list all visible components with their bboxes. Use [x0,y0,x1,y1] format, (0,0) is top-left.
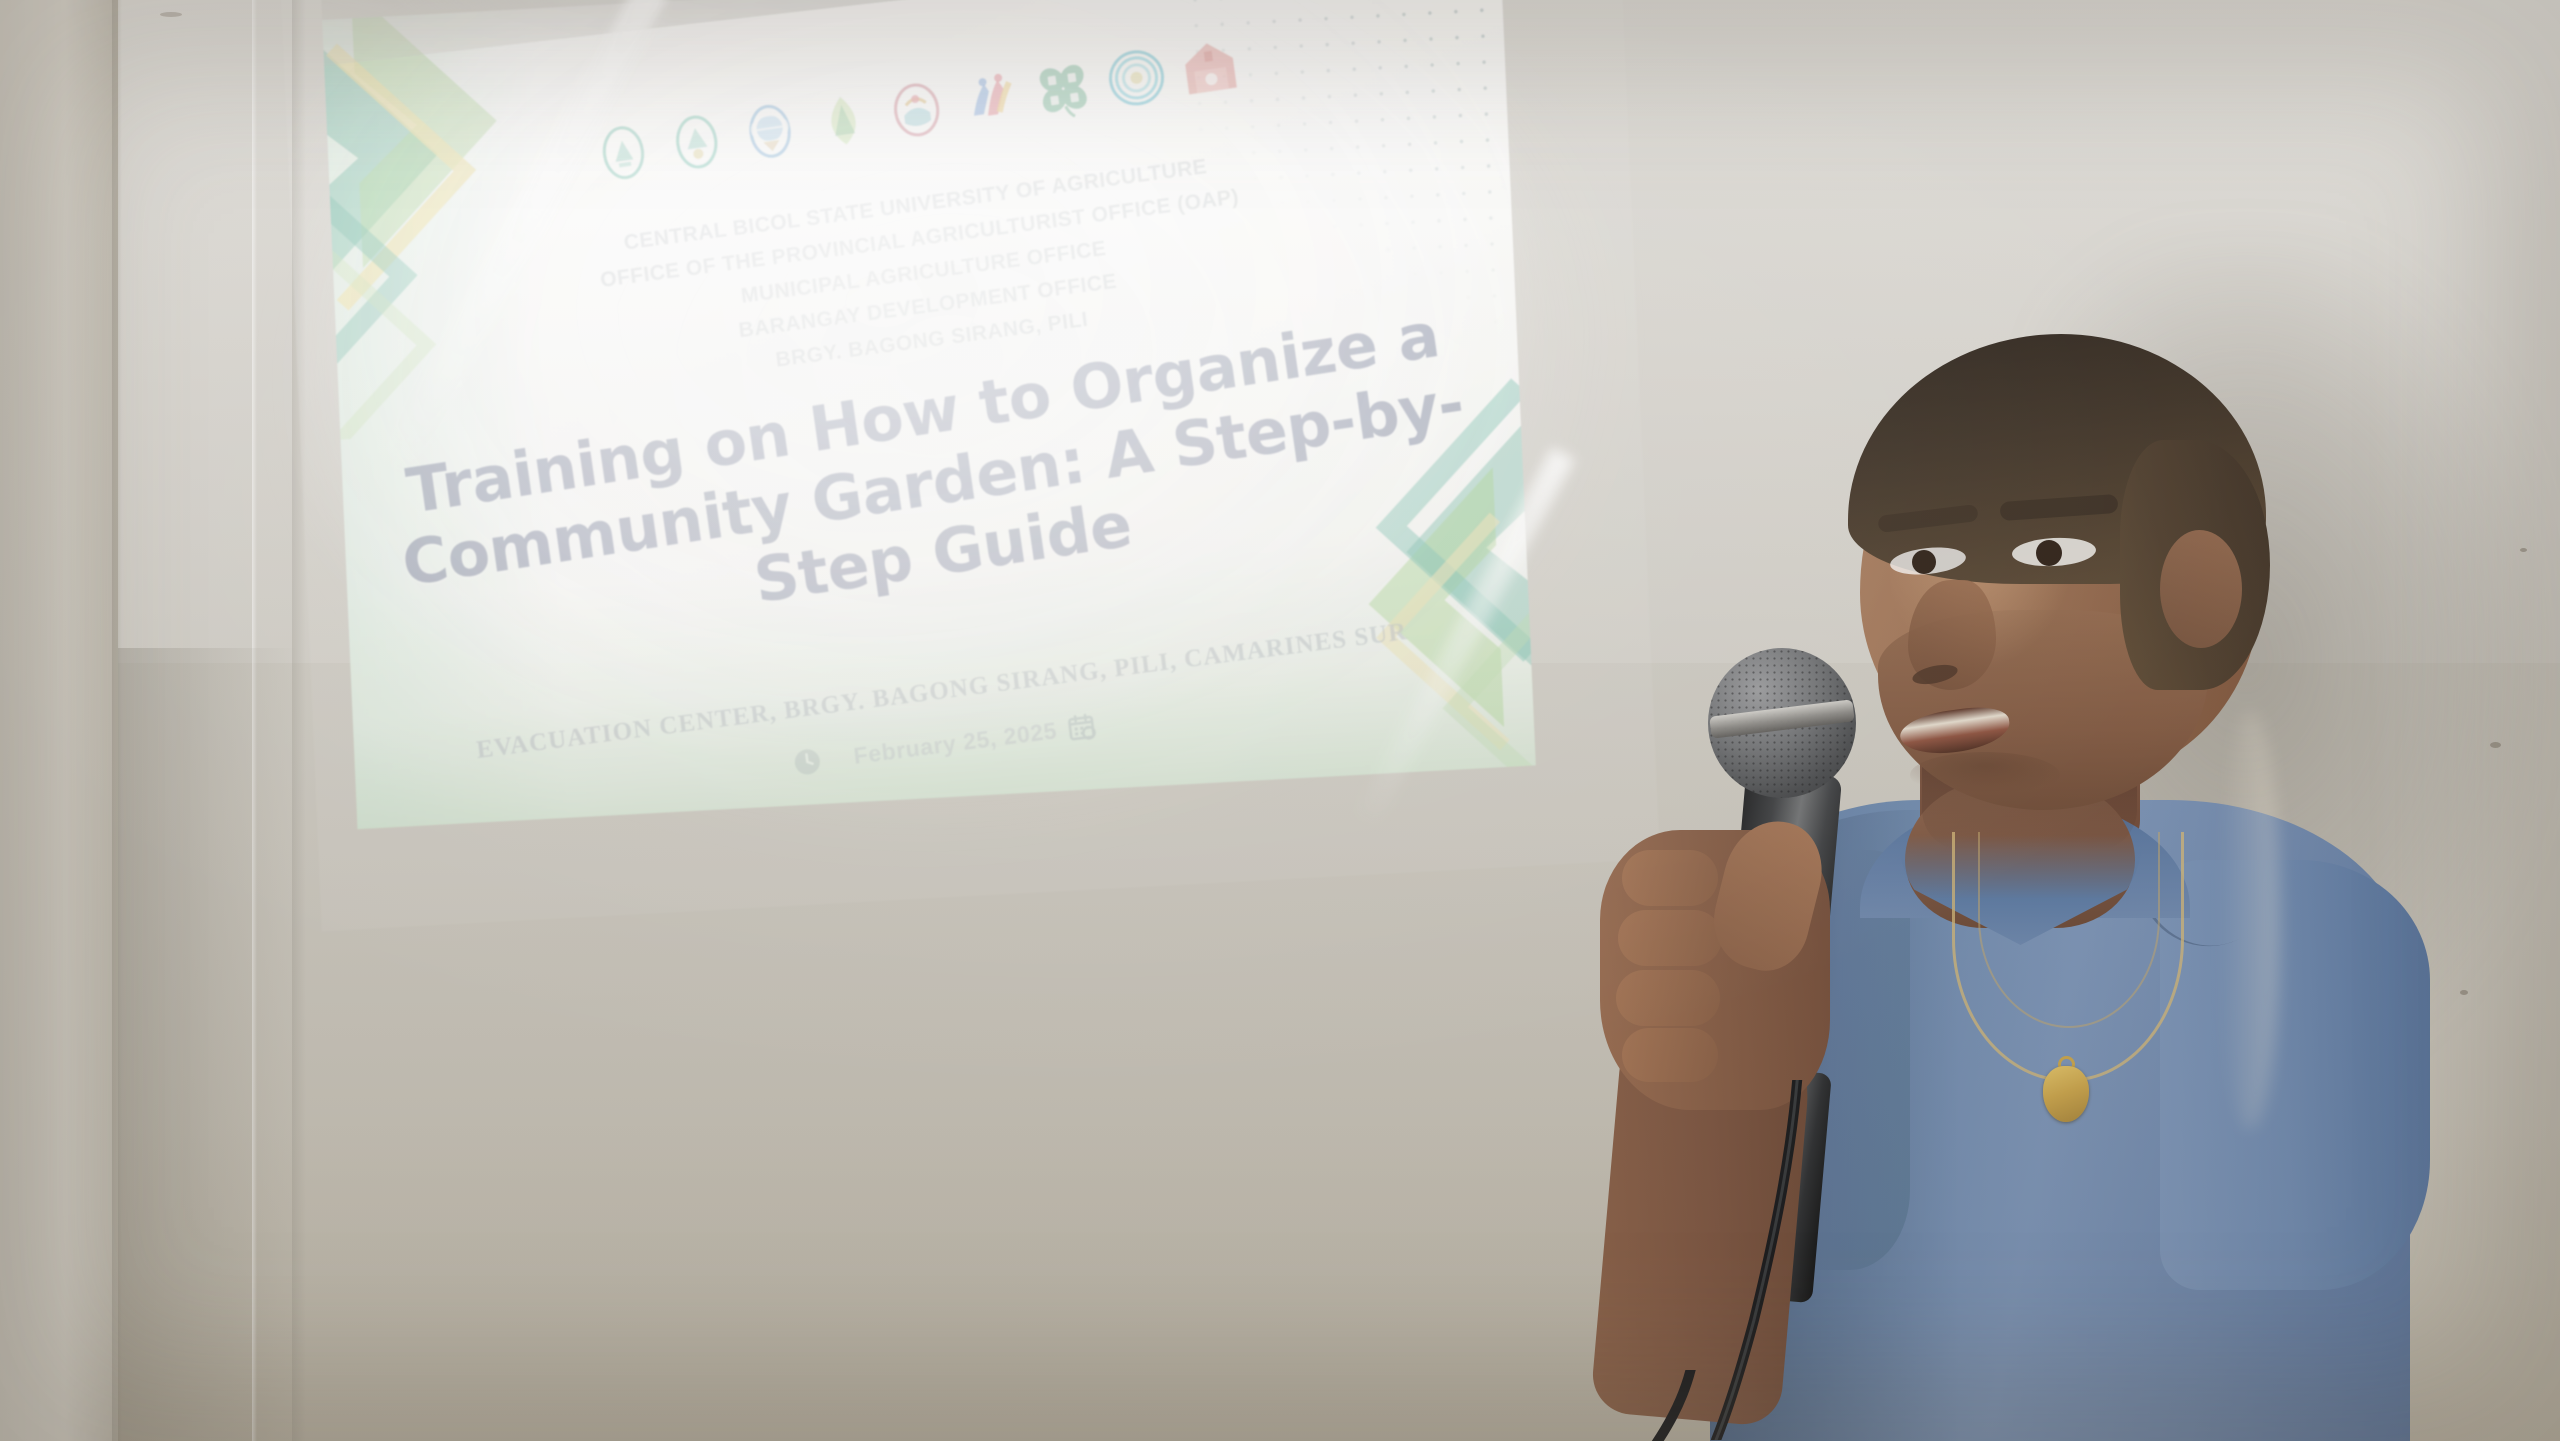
four-h-clover-logo [1029,55,1096,123]
cbsua-seal-logo [590,119,657,187]
chin-shadow [1910,752,2060,798]
provincial-seal-logo [883,76,950,144]
time-group [790,744,833,779]
rim-light [2220,710,2280,1130]
speaker-figure [1560,380,2560,1441]
knuckle [1616,970,1720,1026]
circular-seal-logo [1103,44,1170,112]
knuckle [1622,1028,1718,1082]
microphone-cable-lower [1600,1370,1820,1441]
leaf-drop-logo [810,87,877,155]
barangay-hall-logo [1176,33,1243,101]
agency-seal-logo [663,108,730,176]
pupil-left [1912,550,1936,574]
clock-icon [790,745,823,779]
wall-corner-shadow [118,648,298,1441]
wall-speck [160,12,182,17]
photo-scene: CENTRAL BICOL STATE UNIVERSITY OF AGRICU… [0,0,2560,1441]
slide-canvas: CENTRAL BICOL STATE UNIVERSITY OF AGRICU… [322,0,1536,829]
calendar-icon [1065,710,1098,744]
knuckle [1622,850,1718,906]
knuckle [1618,910,1722,966]
projected-slide: CENTRAL BICOL STATE UNIVERSITY OF AGRICU… [320,0,1619,909]
ear [2160,530,2242,648]
youth-figures-logo [956,65,1023,133]
globe-shield-logo [736,97,803,165]
wall-pillar [0,0,118,1441]
pupil-right [2036,540,2062,566]
